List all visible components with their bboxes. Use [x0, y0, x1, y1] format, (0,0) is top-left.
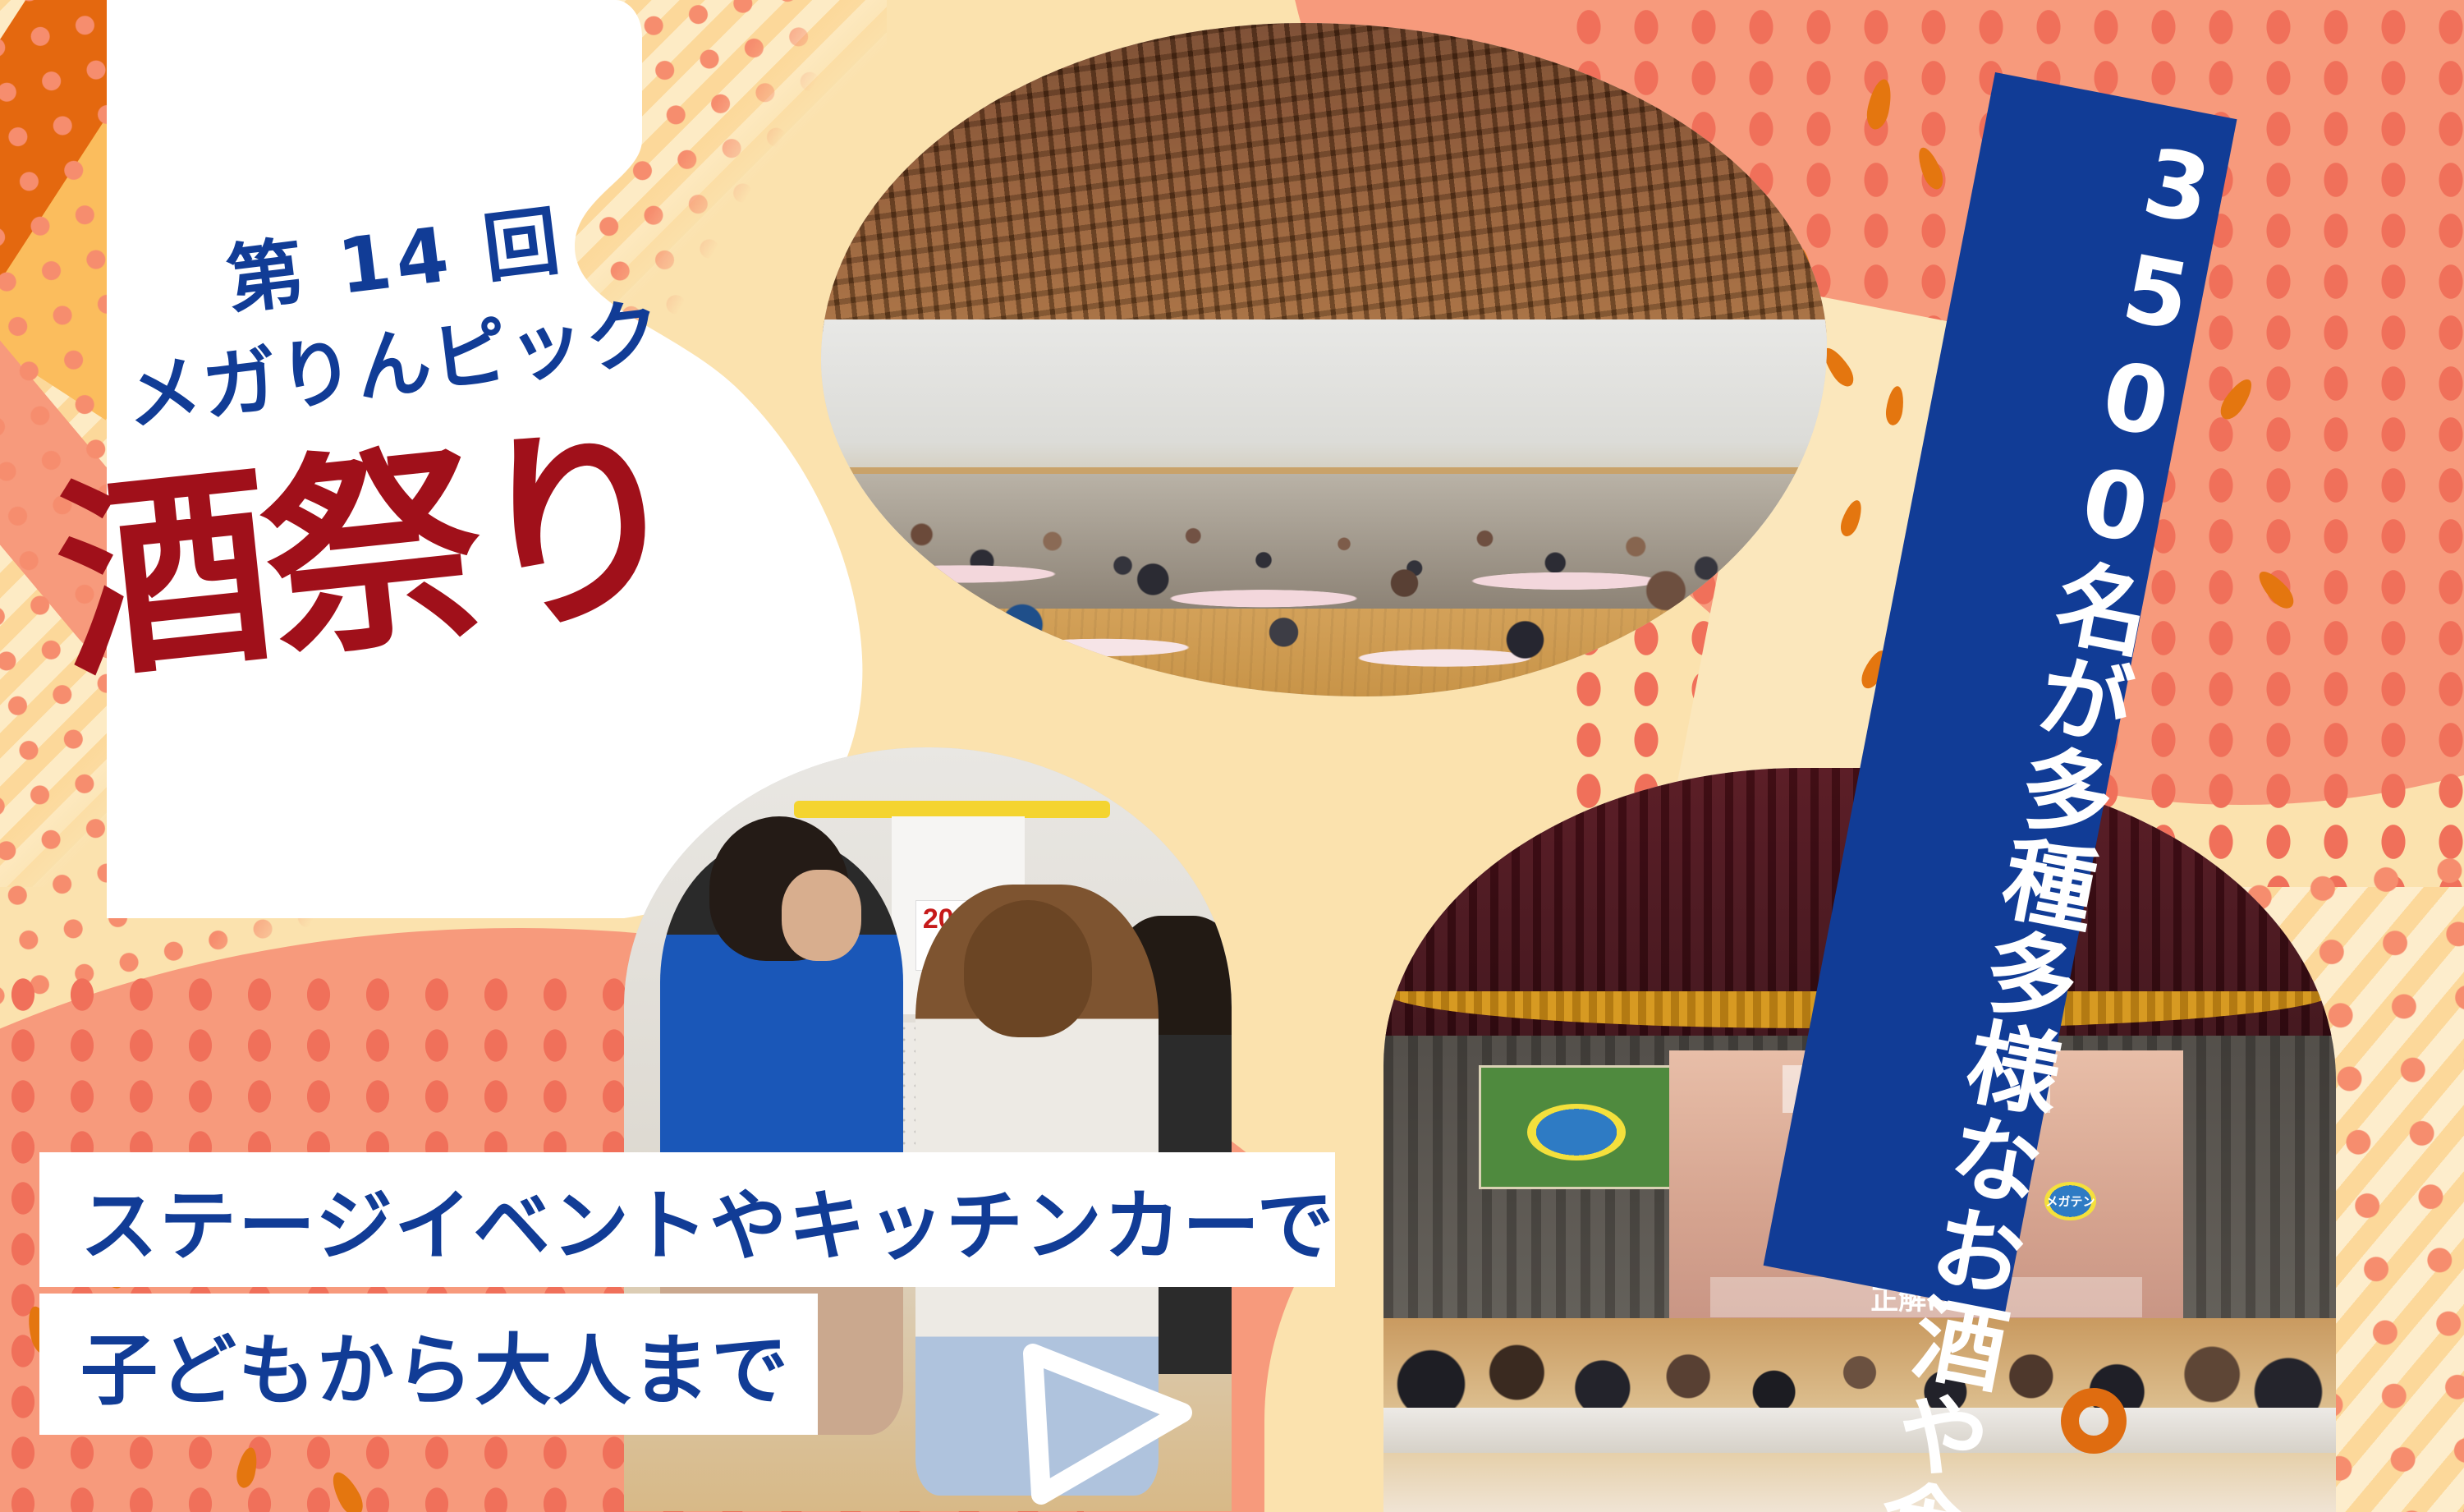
headline-main-title: 酒祭り [48, 416, 692, 693]
hall-crowd-near [821, 508, 1827, 696]
booth-visitor-head [964, 900, 1091, 1037]
hall-ceiling [821, 23, 1827, 333]
booth-staff-mask-icon [782, 870, 860, 962]
booth-yellow-frame [794, 801, 1110, 817]
play-triangle-outline-icon [1018, 1339, 1215, 1512]
poster-root: STAGE 5 蔵元さんの力を借りて クイズに答えよう!! メガテンについて 次… [0, 0, 2464, 1512]
photo-hall [821, 23, 1827, 696]
ring-outline-icon [2061, 1388, 2127, 1454]
tagline-text-1: ステージイベントやキッチンカーで [80, 1164, 1335, 1275]
photo-hall-content [821, 23, 1827, 696]
tagline-box-2: 子どもから大人まで [39, 1294, 818, 1435]
megaten-logo-icon: メガテン [2044, 1182, 2096, 1220]
tagline-text-2: 子どもから大人まで [80, 1308, 790, 1420]
stage-green-sign [1479, 1065, 1674, 1189]
tagline-box-1: ステージイベントやキッチンカーで [39, 1152, 1335, 1287]
